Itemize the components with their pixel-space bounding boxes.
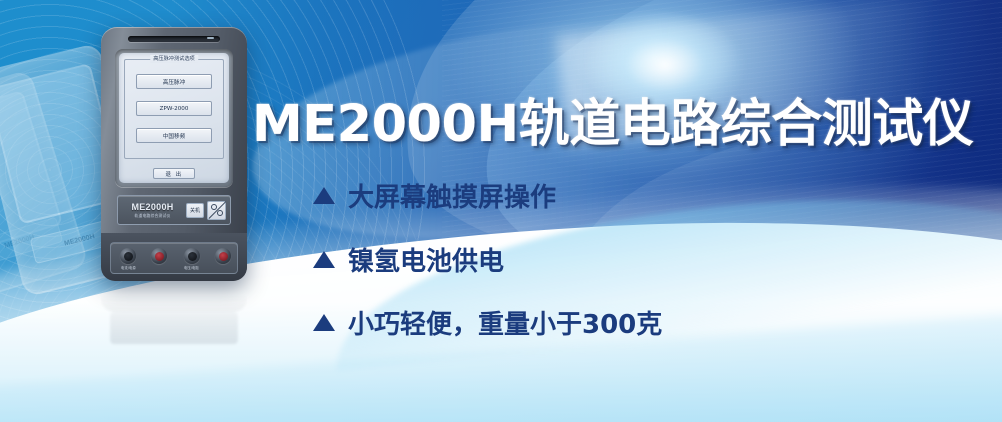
- page-title: ME2000H轨道电路综合测试仪: [252, 82, 973, 156]
- feature-item-2: 镍氢电池供电: [313, 241, 873, 278]
- jack-red-2[interactable]: [215, 248, 231, 264]
- jack-label-current: 电流/电源: [121, 265, 136, 270]
- device-screen-bezel: 高压脉冲测试选项 高压脉冲 ZPW-2000 中国移频 退 出: [115, 49, 233, 187]
- jack-label-voltage: 电压/电阻: [184, 265, 199, 270]
- screen-button-exit[interactable]: 退 出: [153, 168, 195, 179]
- device-power-off-key[interactable]: 关机: [186, 203, 204, 218]
- screen-button-zpw2000[interactable]: ZPW-2000: [136, 101, 212, 116]
- device-brand-subtitle: 轨道电路综合测试仪: [135, 213, 171, 219]
- product-banner: ME2000H ME2000H 高压脉冲测试选项 高压脉冲 ZPW-2000 中…: [0, 0, 1002, 422]
- feature-item-3-label: 小巧轻便，重量小于300克: [348, 304, 662, 341]
- triangle-bullet-icon: [313, 314, 335, 331]
- triangle-bullet-icon: [313, 251, 335, 268]
- feature-item-2-label: 镍氢电池供电: [348, 241, 504, 278]
- power-settings-icon[interactable]: [207, 201, 226, 220]
- triangle-bullet-icon: [313, 187, 335, 204]
- screen-button-china-freq[interactable]: 中国移频: [136, 128, 212, 143]
- feature-item-3: 小巧轻便，重量小于300克: [313, 304, 873, 341]
- jack-black-1[interactable]: [120, 248, 136, 264]
- device-brand-name: ME2000H: [131, 202, 173, 212]
- jack-black-2[interactable]: [184, 248, 200, 264]
- feature-item-1: 大屏幕触摸屏操作: [313, 177, 873, 214]
- product-device-image: 高压脉冲测试选项 高压脉冲 ZPW-2000 中国移频 退 出 ME2000H …: [101, 27, 247, 281]
- screen-option-group: 高压脉冲测试选项 高压脉冲 ZPW-2000 中国移频: [124, 59, 224, 159]
- device-speaker-slot: [128, 36, 220, 42]
- device-jack-panel: 电流/电源 电压/电阻: [110, 242, 238, 274]
- jack-red-1[interactable]: [151, 248, 167, 264]
- device-screen: 高压脉冲测试选项 高压脉冲 ZPW-2000 中国移频 退 出: [119, 53, 229, 183]
- feature-item-1-label: 大屏幕触摸屏操作: [348, 177, 556, 214]
- screen-button-hv-pulse[interactable]: 高压脉冲: [136, 74, 212, 89]
- device-label-panel: ME2000H 轨道电路综合测试仪 关机: [117, 195, 231, 225]
- feature-list: 大屏幕触摸屏操作 镍氢电池供电 小巧轻便，重量小于300克: [313, 177, 873, 366]
- screen-group-title: 高压脉冲测试选项: [150, 55, 198, 63]
